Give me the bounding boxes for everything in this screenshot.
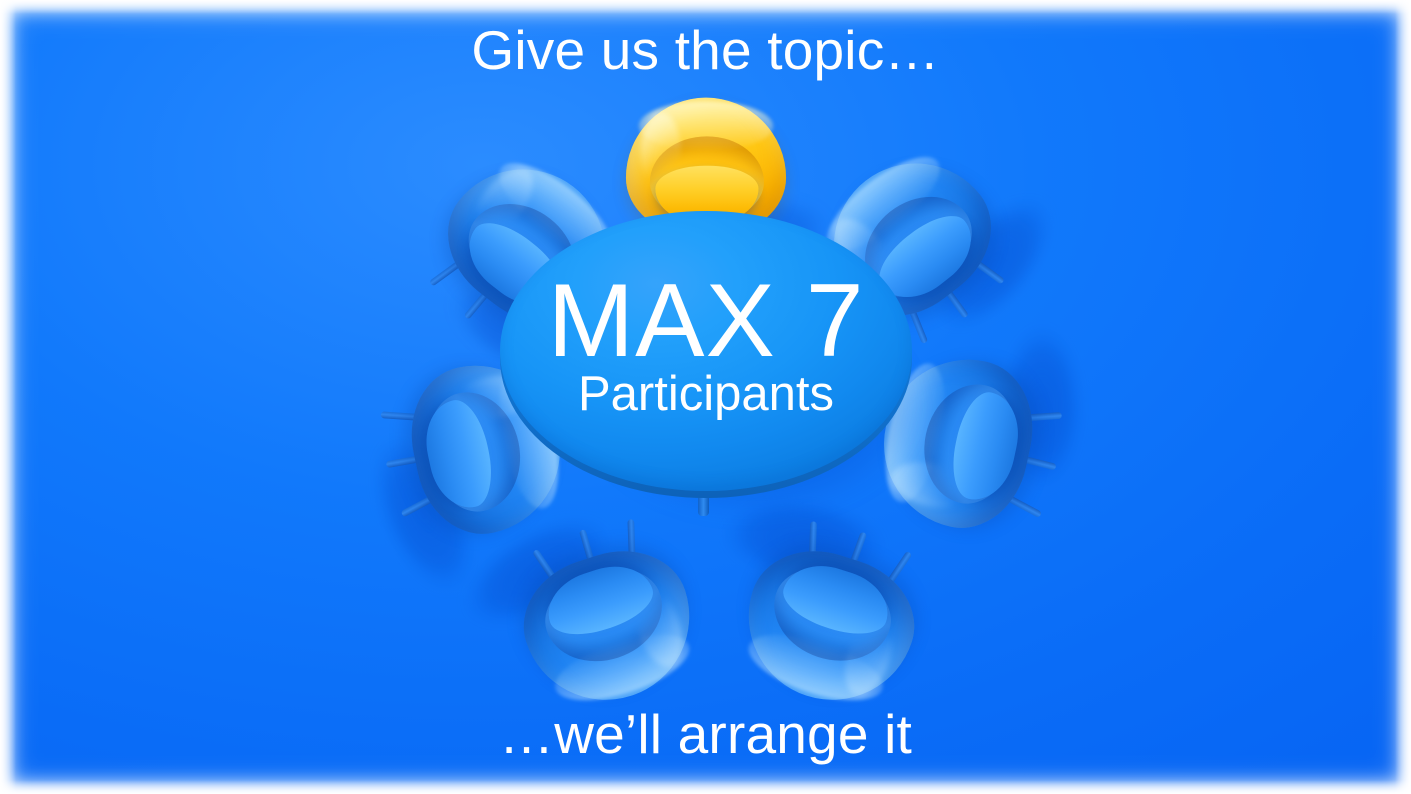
slide-headline: Give us the topic… — [0, 18, 1411, 82]
table-caption: MAX 7 Participants — [498, 268, 914, 422]
chair-specular-glint — [641, 112, 681, 191]
max-participants-headline: MAX 7 — [498, 268, 914, 374]
slide-canvas: MAX 7 Participants — [0, 0, 1411, 794]
slide-footer-text: …we’ll arrange it — [0, 702, 1411, 766]
chair-specular-glint — [735, 656, 761, 708]
meeting-room-illustration: MAX 7 Participants — [0, 0, 1411, 794]
round-conference-table[interactable]: MAX 7 Participants — [498, 206, 914, 506]
